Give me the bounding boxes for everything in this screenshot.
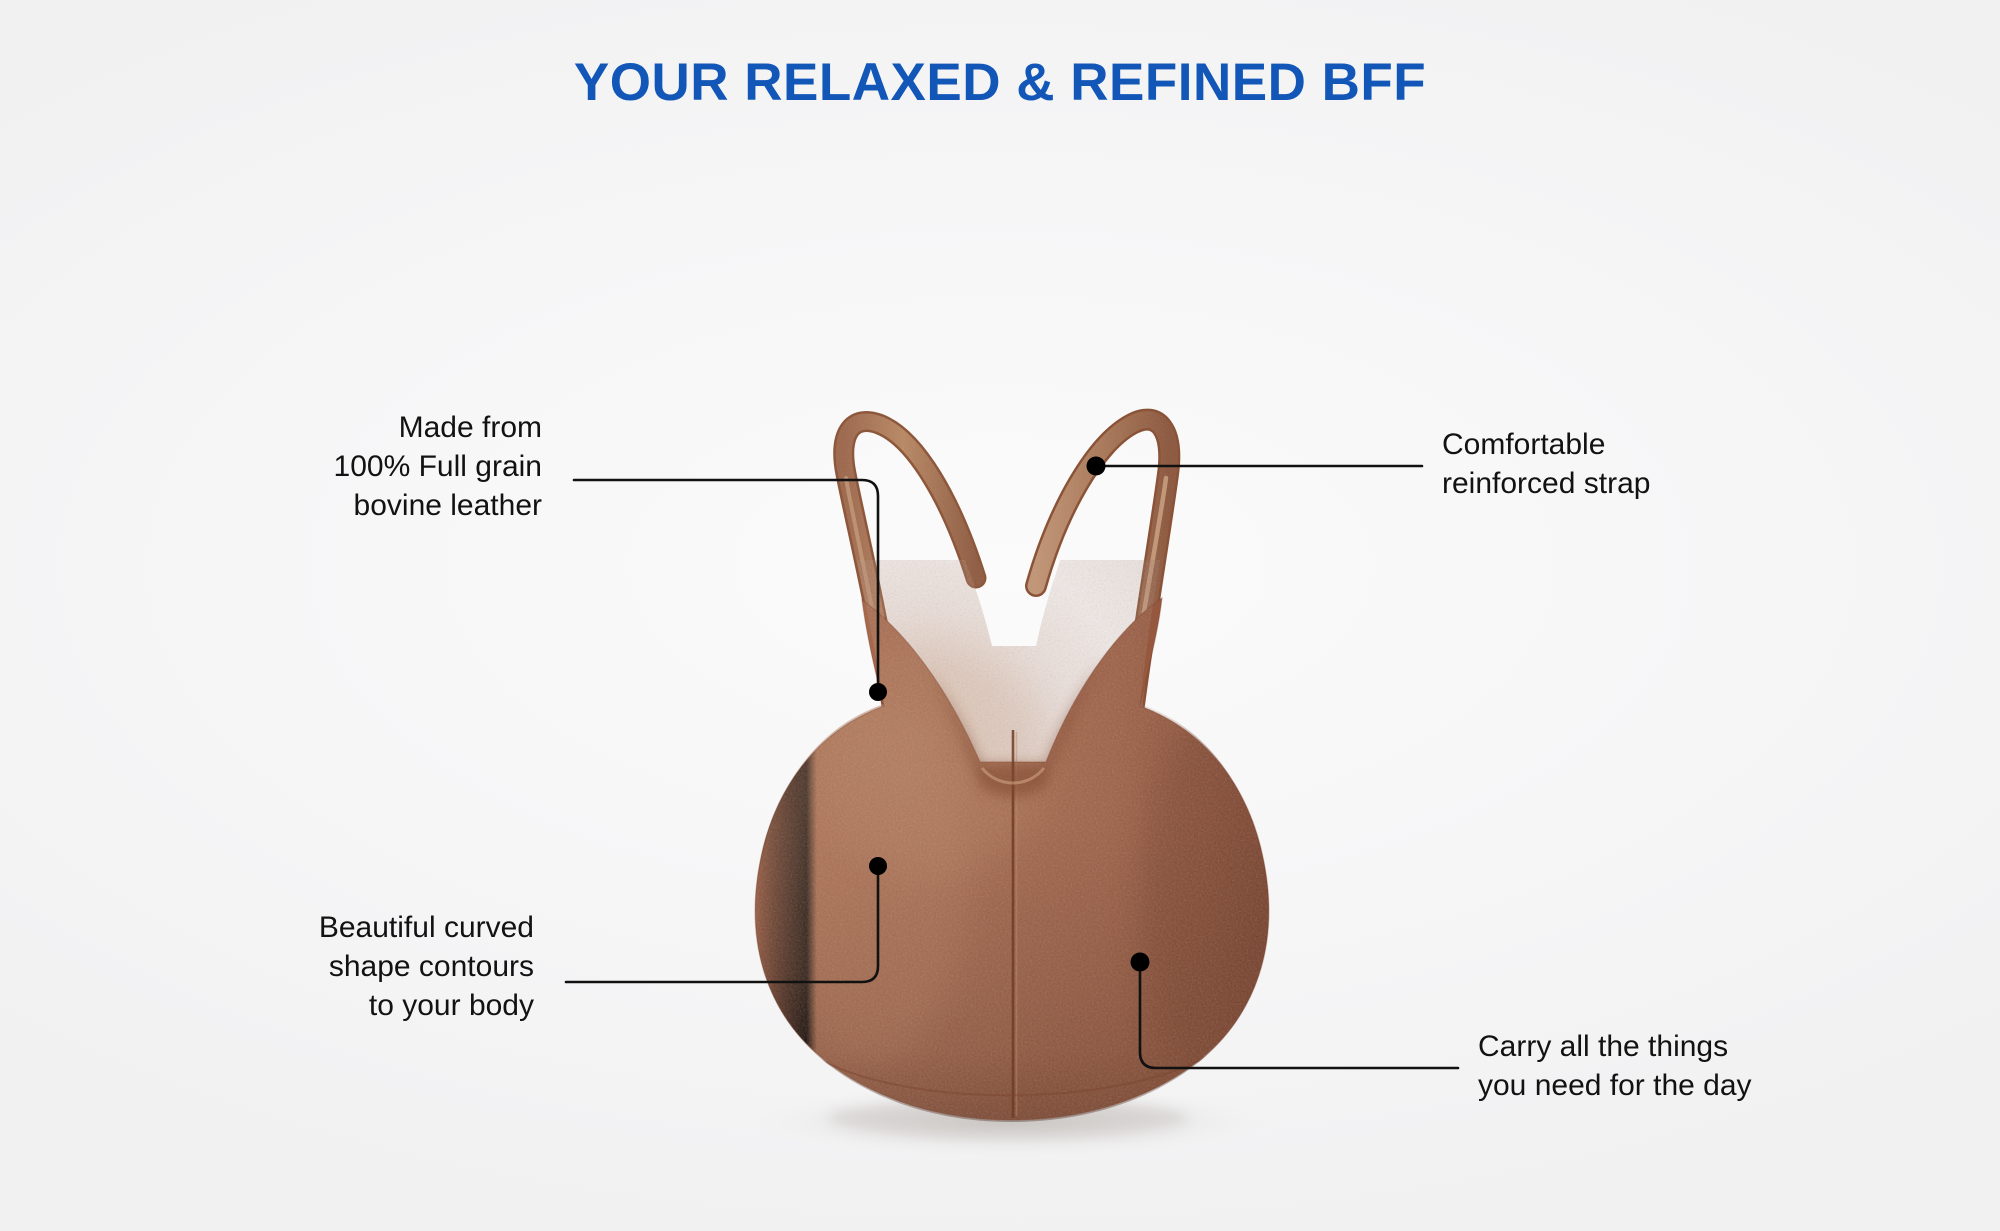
callout-material: Made from 100% Full grain bovine leather: [122, 408, 542, 525]
infographic-canvas: YOUR RELAXED & REFINED BFF Made from 100…: [0, 0, 2000, 1231]
callout-capacity: Carry all the things you need for the da…: [1478, 1027, 1938, 1105]
callout-strap: Comfortable reinforced strap: [1442, 425, 1862, 503]
page-title: YOUR RELAXED & REFINED BFF: [0, 52, 2000, 113]
callout-shape: Beautiful curved shape contours to your …: [94, 908, 534, 1025]
bag-body: [700, 560, 1340, 1160]
